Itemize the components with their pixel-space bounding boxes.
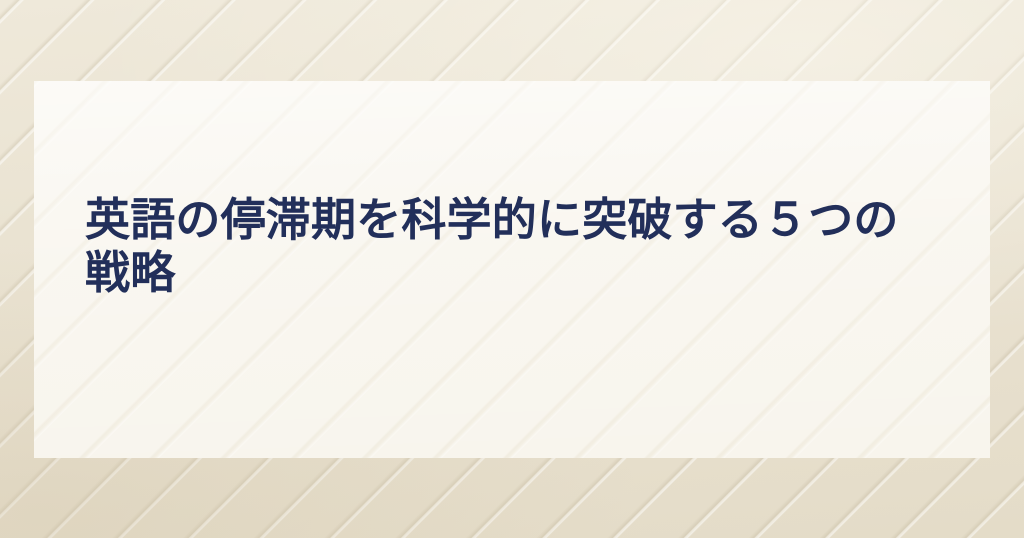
ogp-card-canvas: 英語の停滞期を科学的に突破する５つの 戦略 bbox=[0, 0, 1024, 538]
title-block: 英語の停滞期を科学的に突破する５つの 戦略 bbox=[85, 193, 965, 299]
content-card: 英語の停滞期を科学的に突破する５つの 戦略 bbox=[34, 81, 990, 458]
page-title: 英語の停滞期を科学的に突破する５つの 戦略 bbox=[85, 193, 965, 299]
